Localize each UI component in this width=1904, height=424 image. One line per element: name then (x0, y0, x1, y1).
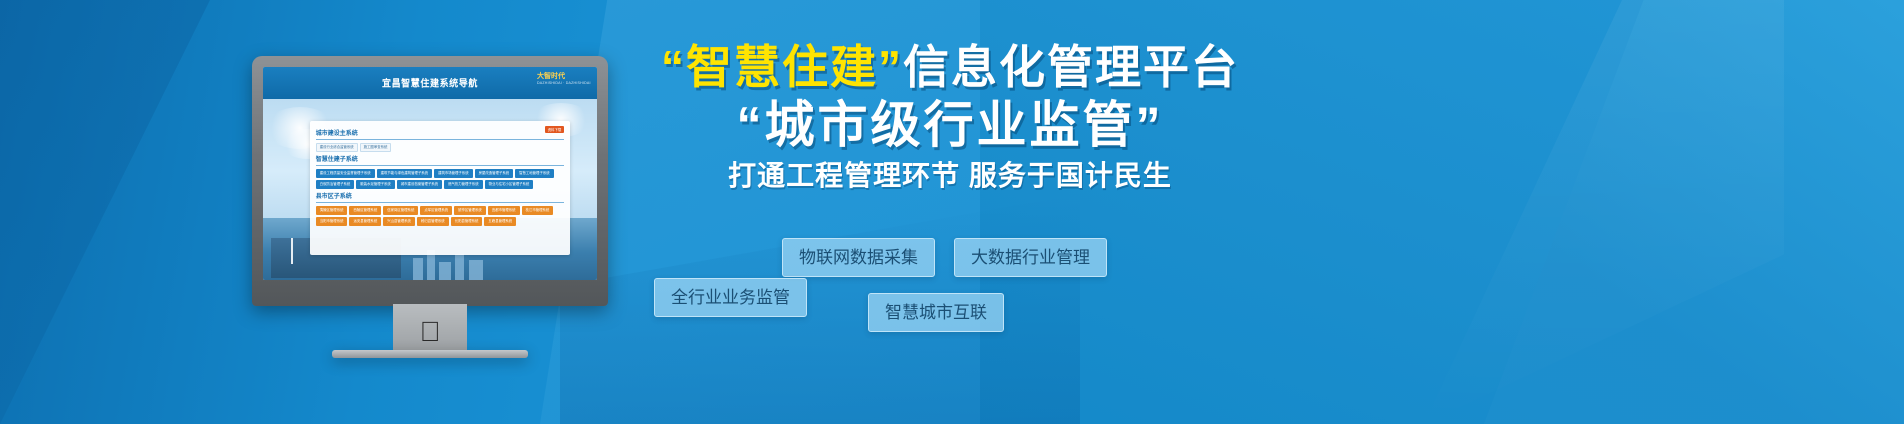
feature-pill-smart-city-interconnect[interactable]: 智慧城市互联 (868, 293, 1004, 332)
building-decoration (469, 260, 483, 280)
screen-logo: 大智时代 DAZHISHIDAI · DAZHISHIDAI (537, 70, 591, 88)
screen-logo-sub: DAZHISHIDAI · DAZHISHIDAI (537, 81, 591, 86)
headline-slogan: 打通工程管理环节 服务于国计民生 (640, 156, 1260, 196)
nav-chip[interactable]: 物业与住宅小区管理子系统 (485, 180, 534, 189)
monitor-screen: 宜昌智慧住建系统导航 大智时代 DAZHISHIDAI · DAZHISHIDA… (263, 67, 597, 280)
nav-chip[interactable]: 燃气热力管理子系统 (444, 180, 483, 189)
building-decoration (455, 254, 464, 280)
nav-chip[interactable]: 夷陵区管理系统 (316, 206, 348, 215)
nav-chip[interactable]: 建设工程质量安全监督管理子系统 (316, 169, 375, 178)
screen-body: 资料下载 城市建设主系统 建设行业综合监管系统 施工图审查系统 智慧住建子系统 … (263, 99, 597, 280)
screen-logo-main: 大智时代 (537, 73, 591, 81)
section-title-district-system: 县市区子系统 (316, 191, 565, 203)
nav-chip[interactable]: 长阳县管理系统 (451, 217, 483, 226)
monitor-stand-base (332, 350, 528, 358)
nav-chip[interactable]: 白蚁防治管理子系统 (316, 180, 355, 189)
hero-banner: 宜昌智慧住建系统导航 大智时代 DAZHISHIDAI · DAZHISHIDA… (0, 0, 1904, 424)
feature-pill-bigdata-industry-management[interactable]: 大数据行业管理 (954, 238, 1107, 277)
nav-chip[interactable]: 建设行业综合监管系统 (316, 143, 358, 152)
headline-line-2: “城市级行业监管” (640, 94, 1260, 156)
nav-chip[interactable]: 枝江市管理系统 (522, 206, 554, 215)
section-title-main-system: 城市建设主系统 (316, 128, 565, 140)
screen-header-title: 宜昌智慧住建系统导航 (382, 76, 478, 90)
nav-chip[interactable]: 建筑节能与绿色建筑管理子系统 (377, 169, 432, 178)
apple-logo-icon:  (420, 318, 441, 346)
nav-chip[interactable]: 猇亭区管理系统 (454, 206, 486, 215)
nav-chip[interactable]: 当阳市管理系统 (316, 217, 348, 226)
feature-pill-industry-wide-supervision[interactable]: 全行业业务监管 (654, 278, 807, 317)
section-items-district-system: 夷陵区管理系统 西陵区管理系统 伍家岗区管理系统 点军区管理系统 猇亭区管理系统… (316, 206, 565, 226)
nav-chip[interactable]: 房屋改造管理子系统 (475, 169, 514, 178)
nav-chip[interactable]: 施工图审查系统 (360, 143, 392, 152)
nav-chip[interactable]: 智慧工地管理子系统 (515, 169, 554, 178)
headline-line-1-rest: 信息化管理平台 (903, 41, 1239, 93)
nav-chip[interactable]: 散装水泥管理子系统 (356, 180, 395, 189)
monitor-bezel: 宜昌智慧住建系统导航 大智时代 DAZHISHIDAI · DAZHISHIDA… (252, 56, 608, 306)
headline-line-1: “智慧住建”信息化管理平台 (640, 40, 1260, 94)
screen-header: 宜昌智慧住建系统导航 大智时代 DAZHISHIDAI · DAZHISHIDA… (263, 67, 597, 99)
nav-chip[interactable]: 五峰县管理系统 (484, 217, 516, 226)
feature-pill-iot-data-collection[interactable]: 物联网数据采集 (782, 238, 935, 277)
monitor-illustration: 宜昌智慧住建系统导航 大智时代 DAZHISHIDAI · DAZHISHIDA… (252, 56, 608, 306)
nav-chip[interactable]: 兴山县管理系统 (383, 217, 415, 226)
background-facet-highlight (1424, 0, 1784, 424)
nav-chip[interactable]: 秭归县管理系统 (417, 217, 449, 226)
section-items-main-system: 建设行业综合监管系统 施工图审查系统 (316, 143, 565, 152)
section-items-sub-system: 建设工程质量安全监督管理子系统 建筑节能与绿色建筑管理子系统 建筑市场管理子系统… (316, 169, 565, 189)
nav-chip[interactable]: 西陵区管理系统 (349, 206, 381, 215)
nav-chip[interactable]: 远安县管理系统 (349, 217, 381, 226)
screen-nav-panel: 资料下载 城市建设主系统 建设行业综合监管系统 施工图审查系统 智慧住建子系统 … (310, 121, 571, 255)
nav-chip[interactable]: 城市建设档案管理子系统 (397, 180, 442, 189)
nav-chip[interactable]: 建筑市场管理子系统 (434, 169, 473, 178)
nav-chip[interactable]: 点军区管理系统 (420, 206, 452, 215)
nav-chip[interactable]: 宜都市管理系统 (488, 206, 520, 215)
building-decoration (439, 262, 451, 280)
nav-chip[interactable]: 伍家岗区管理系统 (383, 206, 418, 215)
building-decoration (413, 258, 423, 280)
background-facet-far-right (1484, 0, 1904, 424)
headline-quoted-term: “智慧住建” (661, 41, 903, 93)
headline-block: “智慧住建”信息化管理平台 “城市级行业监管” 打通工程管理环节 服务于国计民生 (640, 40, 1260, 196)
download-button[interactable]: 资料下载 (545, 126, 565, 133)
section-title-sub-system: 智慧住建子系统 (316, 154, 565, 166)
